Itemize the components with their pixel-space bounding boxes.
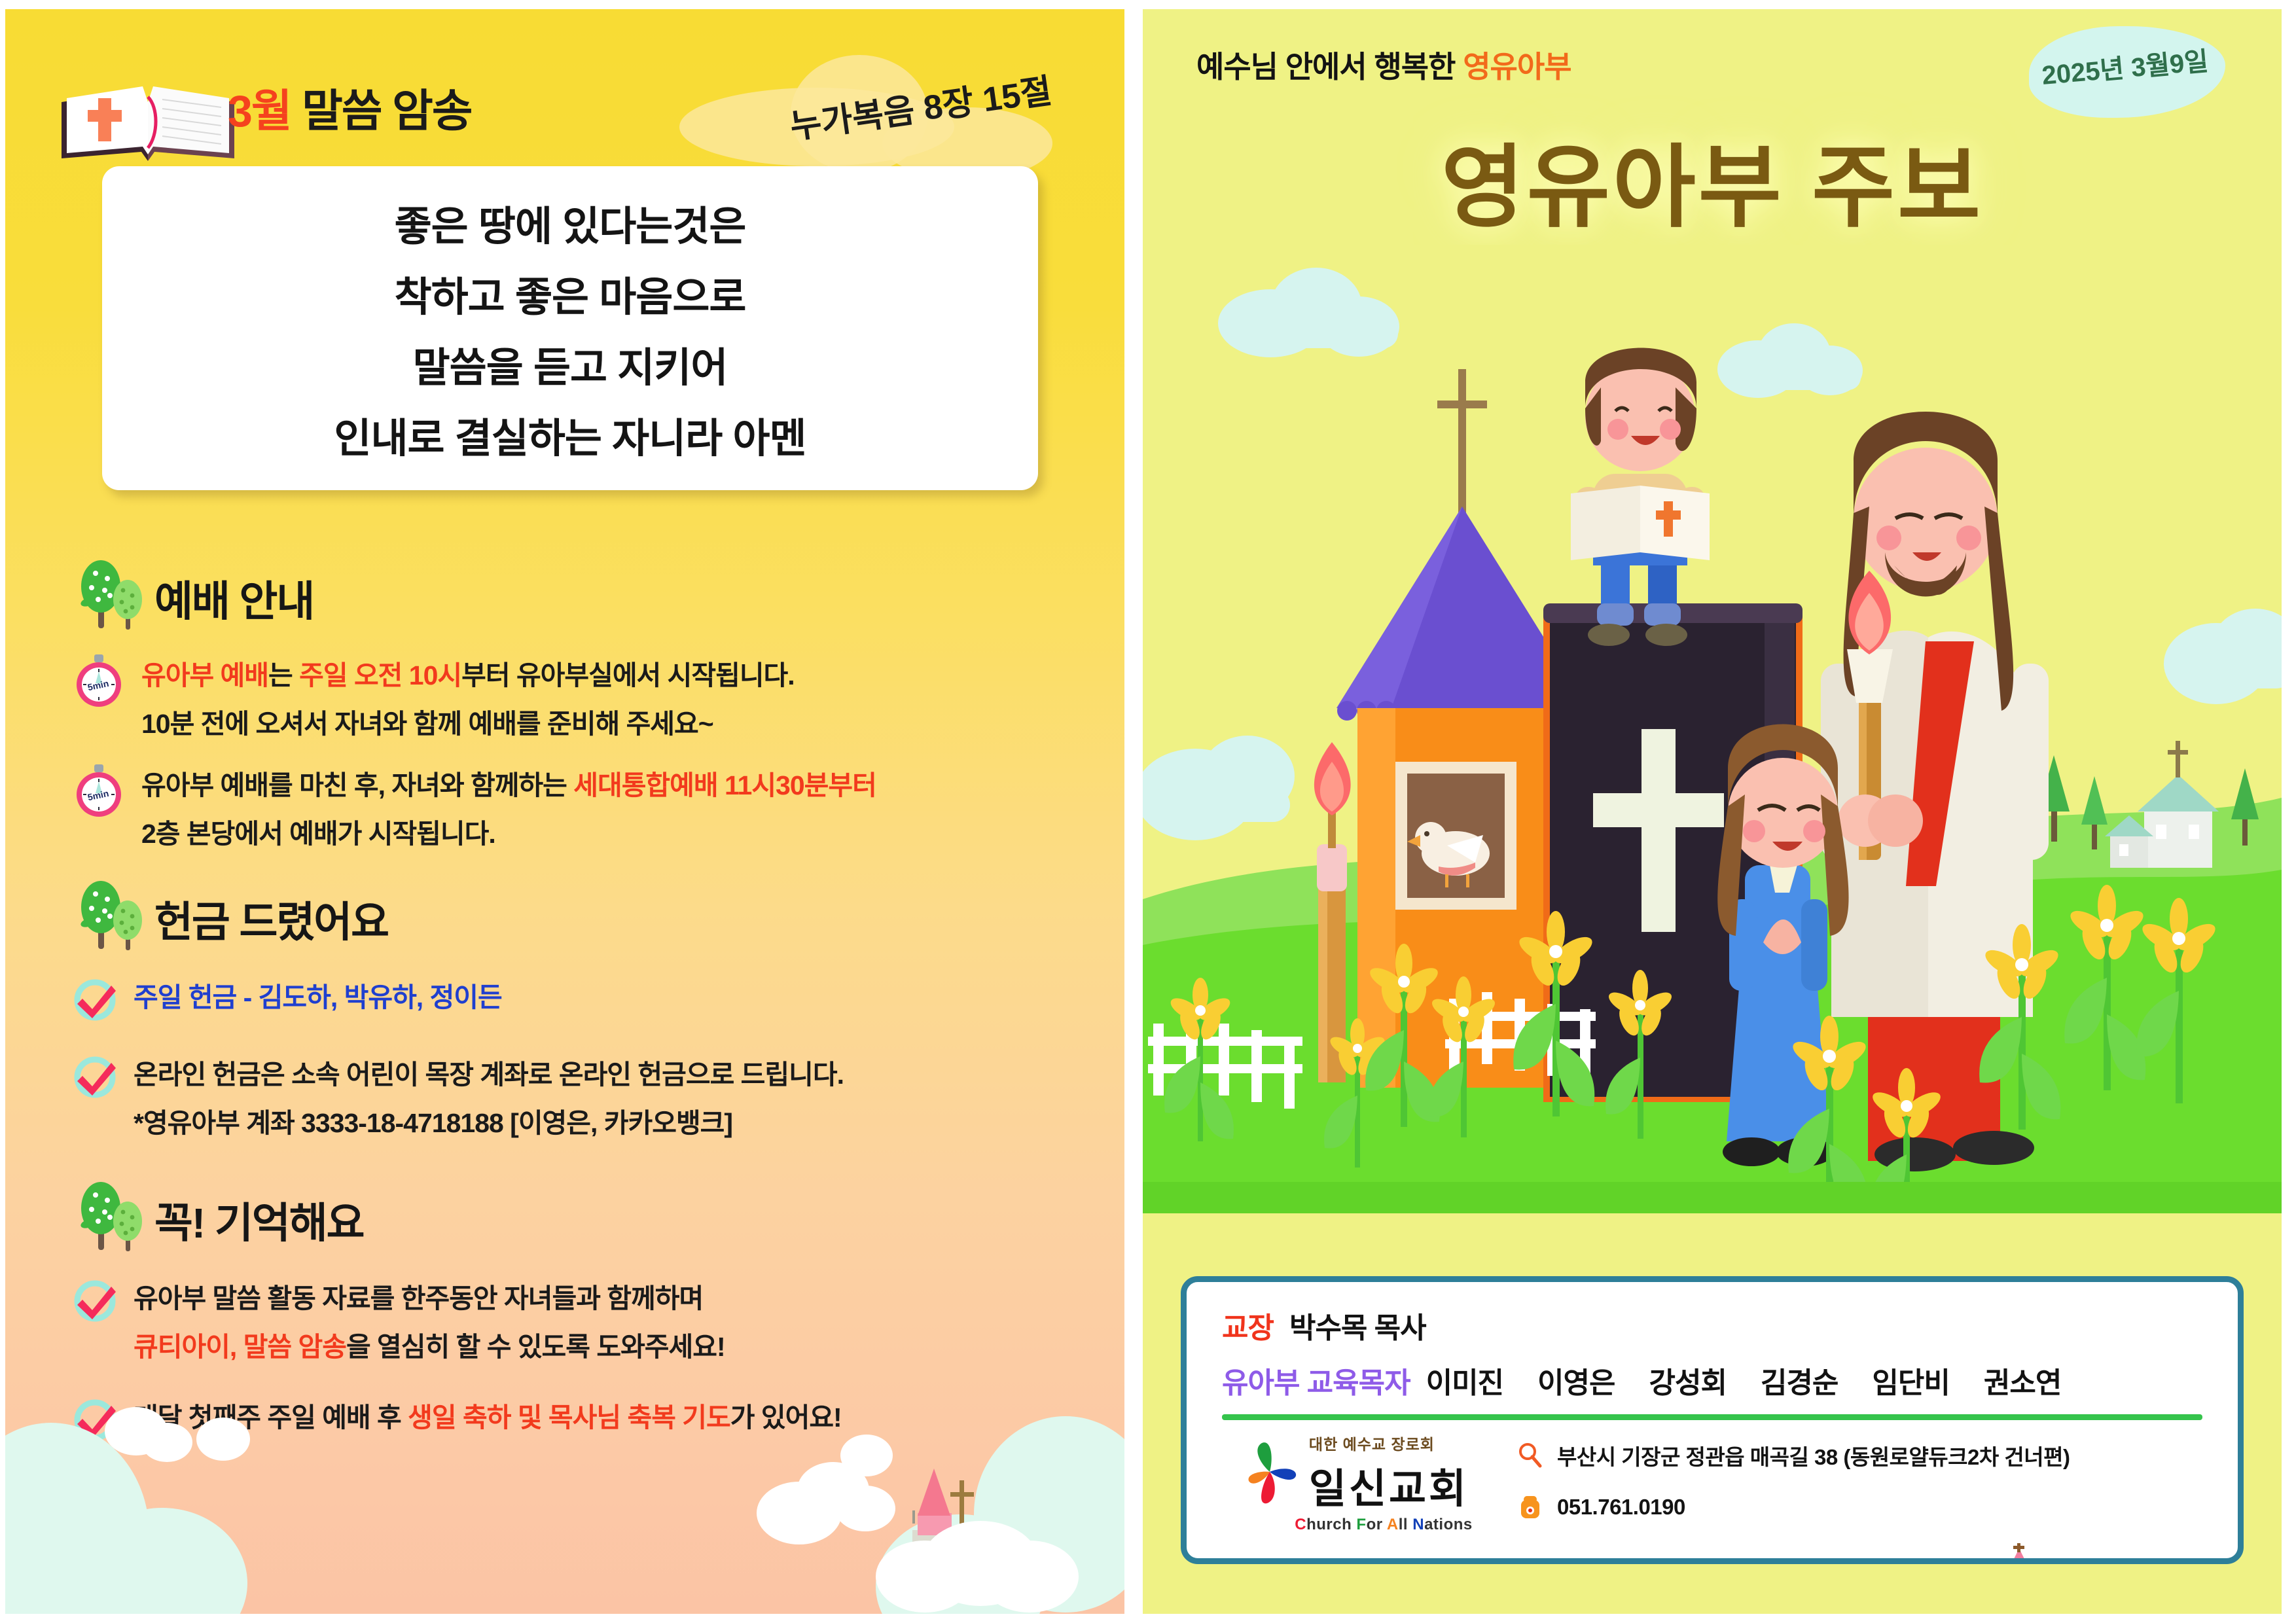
pink-church-icon xyxy=(1996,1543,2041,1564)
memory-verse-card: 좋은 땅에 있다는것은 착하고 좋은 마음으로 말씀을 듣고 지키어 인내로 결… xyxy=(102,166,1038,490)
bullet-item: 주일 헌금 - 김도하, 박유하, 정이든 xyxy=(71,975,1092,1024)
tree-pair-icon xyxy=(71,880,143,952)
address-text: 부산시 기장군 정관읍 매곡길 38 (동원로얄듀크2차 건너편) xyxy=(1557,1440,2070,1471)
section-offering: 헌금 드렸어요 주일 헌금 - 김도하, 박유하, 정이든 xyxy=(71,880,1092,1140)
white-cloud-decor xyxy=(141,1423,192,1462)
info-line: 유아부 예배를 마친 후, 자녀와 함께하는 세대통합예배 11시30분부터 xyxy=(141,763,876,802)
stopwatch-icon: 5min xyxy=(71,653,127,741)
card-divider xyxy=(1222,1414,2202,1420)
teacher-name: 강성회 xyxy=(1649,1359,1727,1401)
tree-pair-icon xyxy=(71,559,143,631)
bulletin-title: 영유아부 주보 xyxy=(1143,114,2282,245)
white-cloud-decor xyxy=(196,1418,250,1461)
check-circle-icon xyxy=(71,1276,119,1364)
tagline-accent: 영유아부 xyxy=(1463,50,1571,84)
info-line: 주일 헌금 - 김도하, 박유하, 정이든 xyxy=(134,975,502,1014)
principal-row: 교장 박수목 목사 xyxy=(1222,1304,2238,1346)
open-bible-icon xyxy=(50,75,246,173)
page-title: 3월 말씀 암송 xyxy=(228,75,471,139)
pinwheel-logo-icon xyxy=(1240,1438,1300,1508)
check-circle-icon xyxy=(71,975,119,1024)
staff-and-contact-card: 교장 박수목 목사 유아부 교육목자 이미진 이영은 강성회 김경순 임단비 권… xyxy=(1181,1276,2244,1564)
section-title: 예배 안내 xyxy=(154,568,314,631)
search-pin-icon xyxy=(1516,1442,1544,1469)
principal-name: 박수목 목사 xyxy=(1289,1304,1426,1346)
right-panel: 예수님 안에서 행복한 영유아부 2025년 3월9일 영유아부 주보 xyxy=(1143,9,2282,1614)
white-cloud-decor xyxy=(980,1541,1079,1613)
verse-line: 말씀을 듣고 지키어 xyxy=(413,334,728,393)
info-line: 온라인 헌금은 소속 어린이 목장 계좌로 온라인 헌금으로 드립니다. xyxy=(134,1052,844,1092)
info-line: 10분 전에 오셔서 자녀와 함께 예배를 준비해 주세요~ xyxy=(141,702,795,741)
teacher-name: 이영은 xyxy=(1537,1359,1615,1401)
info-line: 큐티아이, 말씀 암송을 열심히 할 수 있도록 도와주세요! xyxy=(134,1325,725,1364)
tree-pair-icon xyxy=(71,1181,143,1253)
contact-block: 대한 예수교 장로회 일신교회 Church For All Nations xyxy=(1187,1420,2238,1564)
teacher-name-list: 이미진 이영은 강성회 김경순 임단비 권소연 xyxy=(1426,1359,2062,1401)
church-name-kr: 일신교회 xyxy=(1309,1455,1469,1514)
teacher-name: 권소연 xyxy=(1984,1359,2061,1401)
church-name-en: Church For All Nations xyxy=(1295,1516,1473,1534)
telephone-icon xyxy=(1516,1493,1544,1521)
section-header: 헌금 드렸어요 xyxy=(71,880,1092,952)
right-tagline: 예수님 안에서 행복한 영유아부 xyxy=(1196,43,1571,86)
address-line: 부산시 기장군 정관읍 매곡길 38 (동원로얄듀크2차 건너편) xyxy=(1516,1440,2070,1471)
info-line: 유아부 말씀 활동 자료를 한주동안 자녀들과 함께하며 xyxy=(134,1276,725,1315)
bullet-item: 5min 유아부 예배를 마친 후, 자녀와 함께하는 세대통합예배 11시30… xyxy=(71,763,1092,851)
info-line: 유아부 예배는 주일 오전 10시부터 유아부실에서 시작됩니다. xyxy=(141,653,795,692)
web-line: www.cfan.kr Be joyful always! xyxy=(1516,1543,2070,1564)
church-logo: 대한 예수교 장로회 일신교회 Church For All Nations xyxy=(1223,1432,1485,1564)
teacher-name: 이미진 xyxy=(1426,1359,1503,1401)
info-line: *영유아부 계좌 3333-18-4718188 [이영은, 카카오뱅크] xyxy=(134,1101,844,1140)
section-remember: 꼭! 기억해요 유아부 말씀 활동 자료를 한주동안 자녀들과 함께하며 큐티아… xyxy=(71,1181,1092,1444)
teacher-name: 임단비 xyxy=(1872,1359,1949,1401)
verse-line: 인내로 결실하는 자니라 아멘 xyxy=(334,405,806,464)
principal-label: 교장 xyxy=(1222,1304,1274,1346)
bullet-item: 유아부 말씀 활동 자료를 한주동안 자녀들과 함께하며 큐티아이, 말씀 암송… xyxy=(71,1276,1092,1364)
section-title: 헌금 드렸어요 xyxy=(154,889,388,952)
section-title: 꼭! 기억해요 xyxy=(154,1190,364,1253)
verse-line: 착하고 좋은 마음으로 xyxy=(395,264,746,323)
section-header: 꼭! 기억해요 xyxy=(71,1181,1092,1253)
verse-line: 좋은 땅에 있다는것은 xyxy=(395,193,746,252)
section-worship-info: 예배 안내 5min 유아부 예배는 주일 오전 10시부터 유아부실에 xyxy=(71,559,1092,851)
white-cloud-decor xyxy=(876,1541,974,1613)
section-header: 예배 안내 xyxy=(71,559,1092,631)
staff-block: 교장 박수목 목사 유아부 교육목자 이미진 이영은 강성회 김경순 임단비 권… xyxy=(1187,1282,2238,1401)
bullet-item: 온라인 헌금은 소속 어린이 목장 계좌로 온라인 헌금으로 드립니다. *영유… xyxy=(71,1052,1092,1140)
bullet-item: 5min 유아부 예배는 주일 오전 10시부터 유아부실에서 시작됩니다. 1… xyxy=(71,653,1092,741)
bulletin-page: 3월 말씀 암송 누가복음 8장 15절 좋은 땅에 있다는것은 착하고 좋은 … xyxy=(0,0,2296,1623)
boy-book-icon xyxy=(1571,486,1710,560)
teachers-row: 유아부 교육목자 이미진 이영은 강성회 김경순 임단비 권소연 xyxy=(1222,1359,2238,1401)
illustration-scene xyxy=(1143,245,2282,1213)
web-text: www.cfan.kr xyxy=(1557,1557,1680,1564)
stopwatch-icon: 5min xyxy=(71,763,127,851)
monitor-icon xyxy=(1516,1556,1544,1564)
phone-text: 051.761.0190 xyxy=(1557,1495,1685,1520)
white-cloud-decor xyxy=(840,1435,893,1476)
phone-line: 051.761.0190 xyxy=(1516,1493,2070,1521)
contact-lines: 부산시 기장군 정관읍 매곡길 38 (동원로얄듀크2차 건너편) 051.76… xyxy=(1516,1432,2070,1564)
info-line: 2층 본당에서 예배가 시작됩니다. xyxy=(141,811,876,851)
tagline-plain: 예수님 안에서 행복한 xyxy=(1196,50,1463,84)
title-month: 3월 xyxy=(228,86,291,136)
slogan-text: Be joyful always! xyxy=(1811,1557,1965,1564)
title-rest: 말씀 암송 xyxy=(291,86,471,136)
candle-left-icon xyxy=(1314,742,1351,1082)
teacher-name: 김경순 xyxy=(1761,1359,1838,1401)
denomination-label: 대한 예수교 장로회 xyxy=(1309,1432,1469,1454)
left-panel: 3월 말씀 암송 누가복음 8장 15절 좋은 땅에 있다는것은 착하고 좋은 … xyxy=(5,9,1124,1614)
teacher-label: 유아부 교육목자 xyxy=(1222,1359,1410,1401)
check-circle-icon xyxy=(71,1052,119,1140)
white-cloud-decor xyxy=(835,1486,895,1531)
